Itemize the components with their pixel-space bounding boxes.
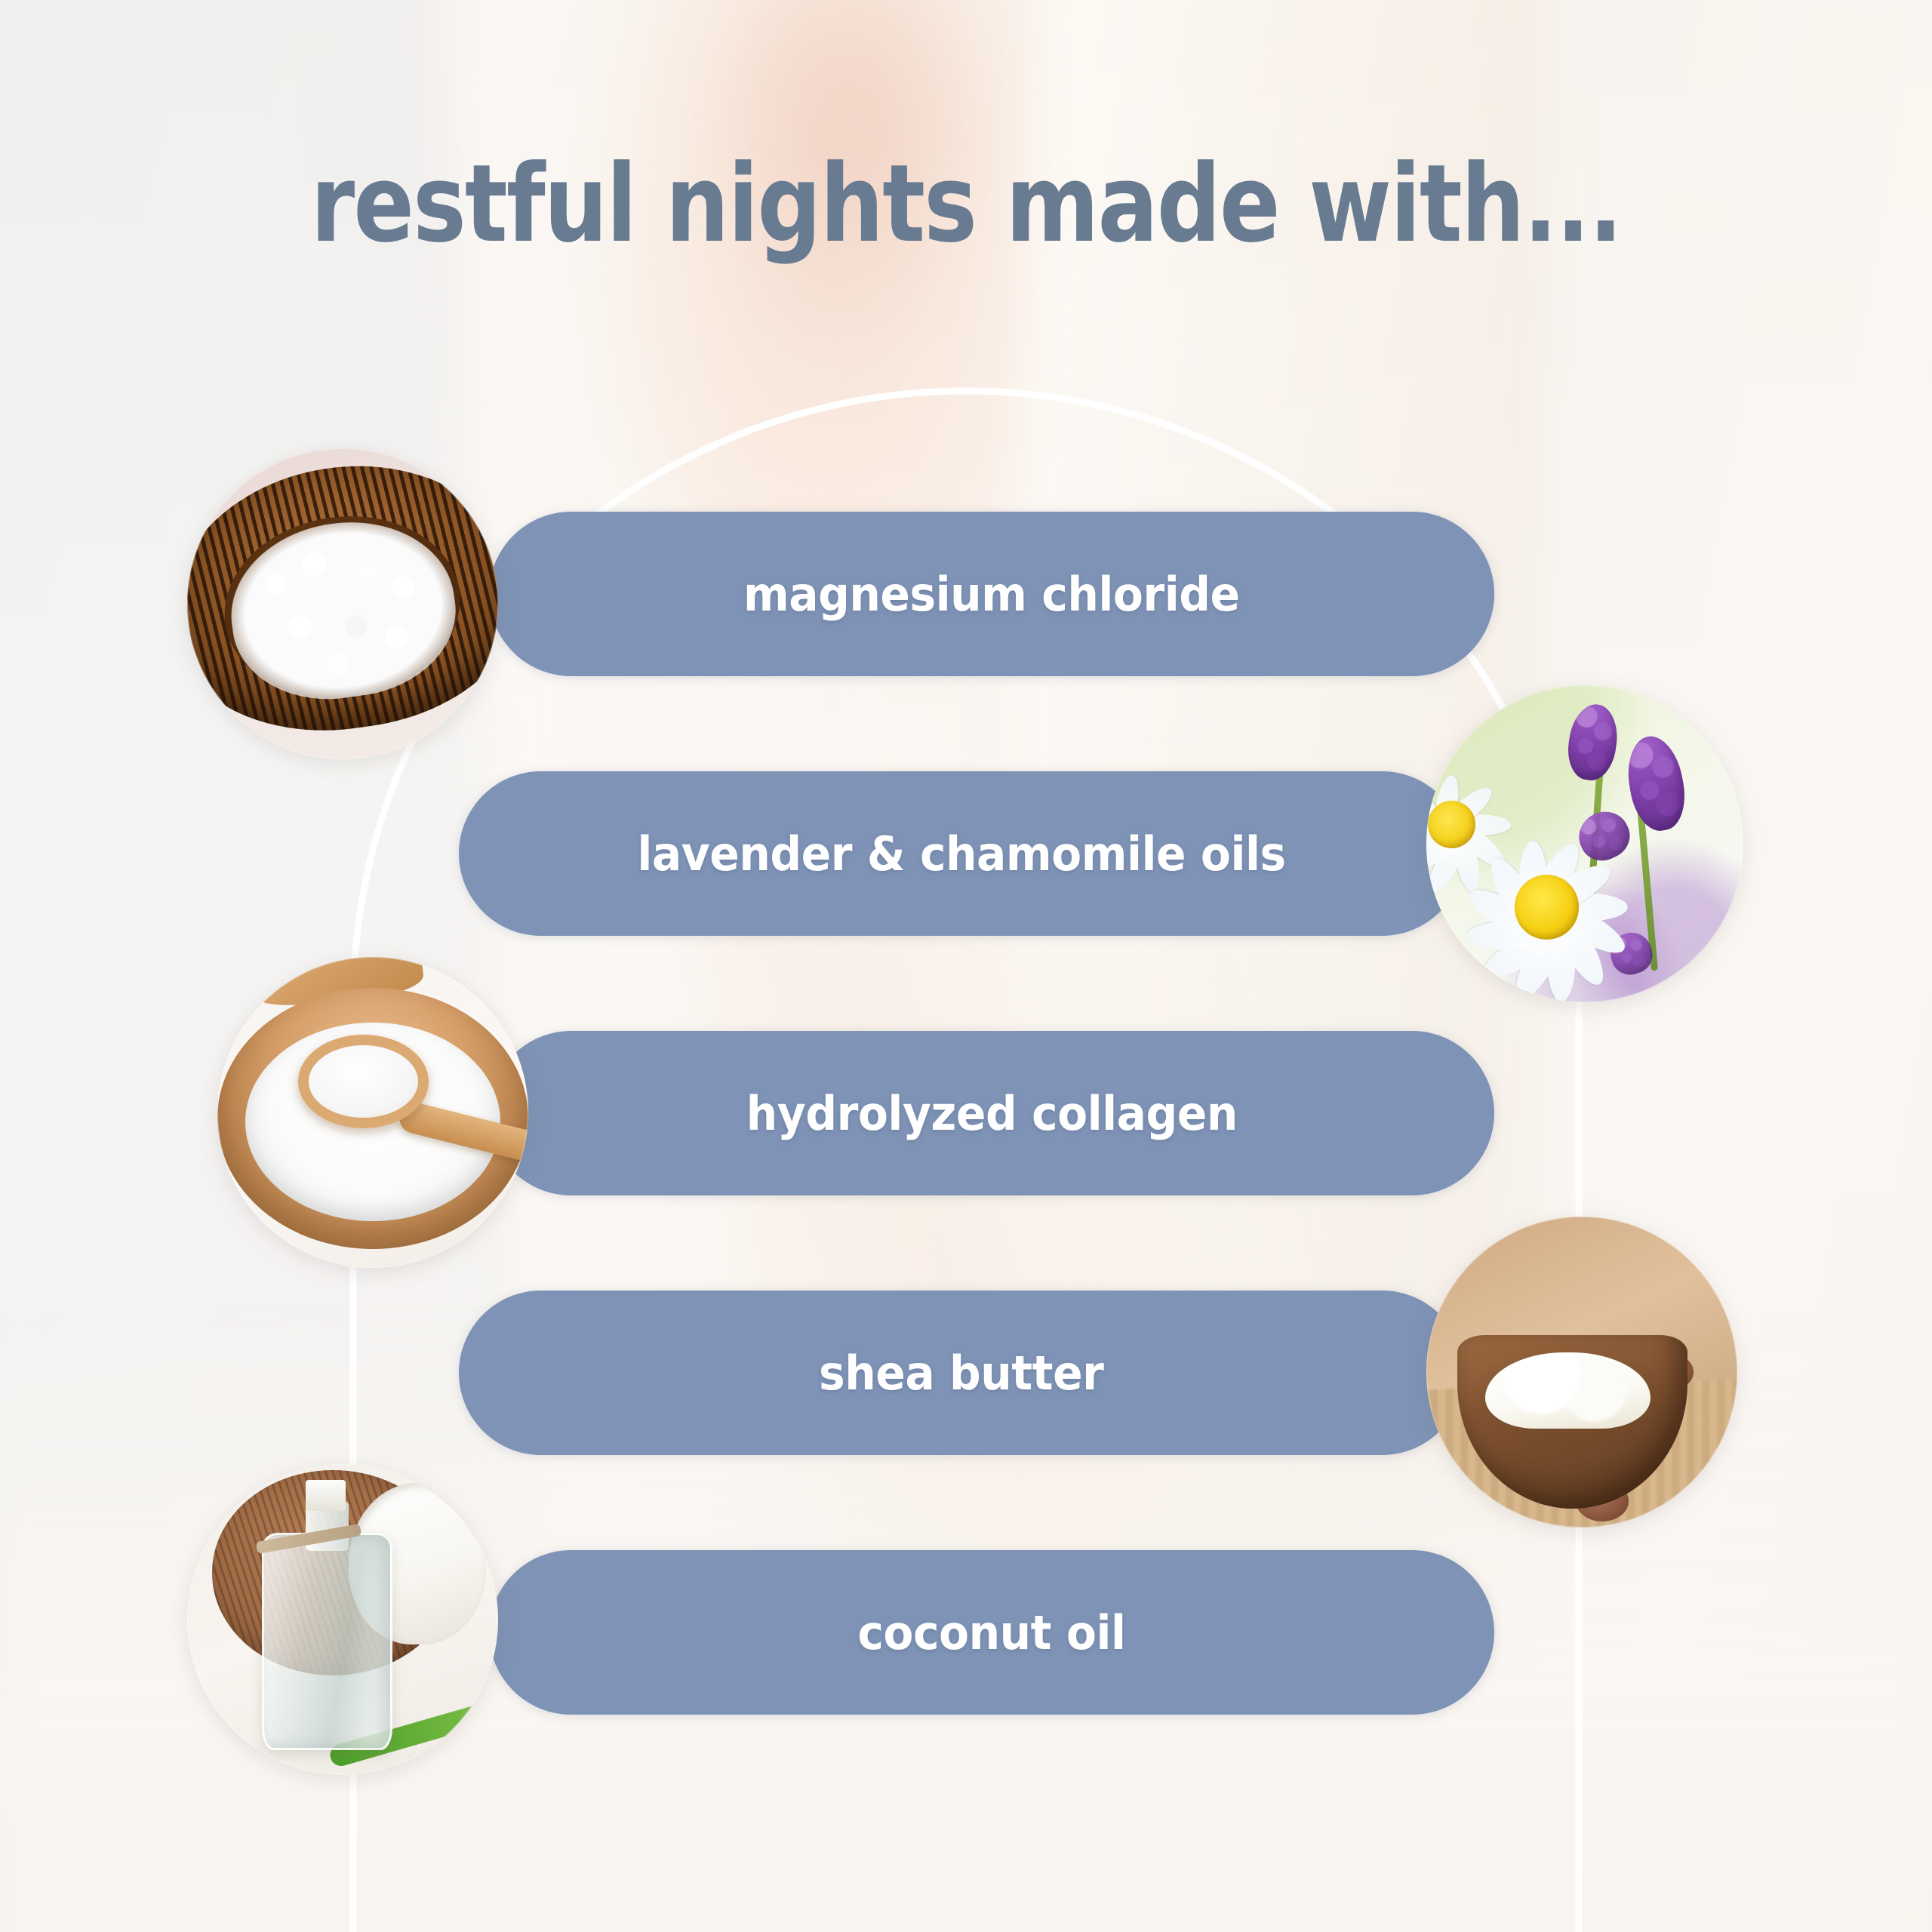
chamomile-flower: [1452, 812, 1642, 1002]
oil-bottle: [262, 1533, 392, 1750]
floral-photo-backdrop: [1426, 685, 1743, 1002]
magnesium-photo-backdrop: [187, 448, 498, 759]
ingredient-infographic: restful nights made with... magnesium ch…: [0, 0, 1932, 1932]
ingredient-pill-hydrolyzed-collagen[interactable]: hydrolyzed collagen: [489, 1031, 1494, 1195]
ingredient-pill-shea-butter[interactable]: shea butter: [459, 1291, 1464, 1455]
ingredient-photo-lavender-chamomile: [1426, 685, 1743, 1002]
shea-photo-backdrop: [1426, 1217, 1737, 1527]
chamomile-center: [1515, 875, 1580, 940]
page-title: restful nights made with...: [68, 148, 1865, 260]
ingredient-label: shea butter: [819, 1346, 1103, 1401]
shea-butter-scoop: [1485, 1352, 1651, 1429]
ingredient-pill-magnesium-chloride[interactable]: magnesium chloride: [489, 512, 1494, 676]
ingredient-label: hydrolyzed collagen: [746, 1086, 1237, 1141]
collagen-photo-backdrop: [217, 957, 528, 1268]
ingredient-photo-magnesium-chloride: [187, 448, 498, 759]
ingredient-label: coconut oil: [857, 1605, 1125, 1660]
bottle-cork: [306, 1480, 346, 1511]
ingredient-pill-coconut-oil[interactable]: coconut oil: [489, 1550, 1494, 1715]
coconut-photo-backdrop: [187, 1464, 498, 1775]
ingredient-photo-coconut-oil: [187, 1464, 498, 1775]
wooden-spoon-bowl: [298, 1035, 429, 1128]
ingredient-label: magnesium chloride: [743, 567, 1240, 622]
ingredient-photo-hydrolyzed-collagen: [217, 957, 528, 1268]
ingredient-label: lavender & chamomile oils: [637, 826, 1285, 881]
ingredient-photo-shea-butter: [1426, 1217, 1737, 1527]
ingredient-pill-lavender-chamomile-oils[interactable]: lavender & chamomile oils: [459, 771, 1464, 936]
